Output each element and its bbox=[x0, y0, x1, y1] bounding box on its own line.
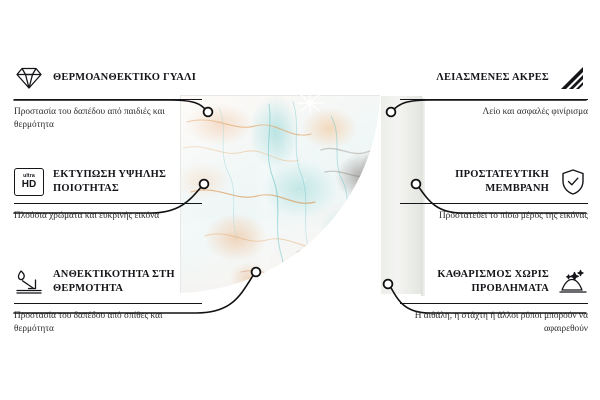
marble-vein-overlay bbox=[181, 96, 393, 298]
feature-title: ΘΕΡΜΟΑΝΘΕΚΤΙΚΟ ΓΥΑΛΙ bbox=[53, 71, 196, 85]
feature-easy-cleaning: ΚΑΘΑΡΙΣΜΟΣ ΧΩΡΙΣ ΠΡΟΒΛΗΜΑΤΑ Η αιθάλη, η … bbox=[400, 266, 588, 337]
feature-subtitle: Λείο και ασφαλές φινίρισμα bbox=[400, 106, 588, 119]
feature-title: ΠΡΟΣΤΑΤΕΥΤΙΚΗ ΜΕΜΒΡΑΝΗ bbox=[400, 168, 549, 196]
feature-divider bbox=[400, 303, 588, 304]
feature-title: ΛΕΙΑΣΜΕΝΕΣ ΑΚΡΕΣ bbox=[436, 71, 549, 85]
feature-divider bbox=[14, 203, 202, 204]
diagonal-stripes-icon bbox=[558, 63, 588, 93]
feature-heat-resistance: ΑΝΘΕΚΤΙΚΟΤΗΤΑ ΣΤΗ ΘΕΡΜΟΤΗΤΑ Προστασία το… bbox=[14, 266, 202, 337]
feature-subtitle: Προστασία του δαπέδου από σπίθες και θερ… bbox=[14, 310, 202, 337]
feature-subtitle: Προστασία του δαπέδου από παιδιές και θε… bbox=[14, 106, 202, 133]
feature-title: ΚΑΘΑΡΙΣΜΟΣ ΧΩΡΙΣ ΠΡΟΒΛΗΜΑΤΑ bbox=[400, 268, 549, 296]
feature-header: ultra HD ΕΚΤΥΠΩΣΗ ΥΨΗΛΗΣ ΠΟΙΟΤΗΤΑΣ bbox=[14, 166, 202, 198]
feature-heat-resistant-glass: ΘΕΡΜΟΑΝΘΕΚΤΙΚΟ ΓΥΑΛΙ Προστασία του δαπέδ… bbox=[14, 62, 202, 133]
sparkle-cloth-icon bbox=[558, 267, 588, 297]
feature-header: ΠΡΟΣΤΑΤΕΥΤΙΚΗ ΜΕΜΒΡΑΝΗ bbox=[400, 166, 588, 198]
shield-check-icon bbox=[558, 167, 588, 197]
infographic-canvas: ΘΕΡΜΟΑΝΘΕΚΤΙΚΟ ΓΥΑΛΙ Προστασία του δαπέδ… bbox=[0, 0, 600, 400]
ultra-hd-icon: ultra HD bbox=[14, 167, 44, 197]
feature-header: ΘΕΡΜΟΑΝΘΕΚΤΙΚΟ ΓΥΑΛΙ bbox=[14, 62, 202, 94]
product-image bbox=[175, 88, 425, 320]
feature-divider bbox=[400, 203, 588, 204]
feature-divider bbox=[14, 99, 202, 100]
heat-resistance-icon bbox=[14, 267, 44, 297]
feature-divider bbox=[400, 99, 588, 100]
feature-divider bbox=[14, 303, 202, 304]
feature-polished-edges: ΛΕΙΑΣΜΕΝΕΣ ΑΚΡΕΣ Λείο και ασφαλές φινίρι… bbox=[400, 62, 588, 119]
feature-protective-membrane: ΠΡΟΣΤΑΤΕΥΤΙΚΗ ΜΕΜΒΡΑΝΗ Προστατεύει το πί… bbox=[400, 166, 588, 223]
feature-subtitle: Προστατεύει το πίσω μέρος της εικόνας bbox=[400, 210, 588, 223]
feature-header: ΚΑΘΑΡΙΣΜΟΣ ΧΩΡΙΣ ΠΡΟΒΛΗΜΑΤΑ bbox=[400, 266, 588, 298]
feature-subtitle: Πλούσια χρώματα και ευκρινής εικόνα bbox=[14, 210, 202, 223]
feature-high-quality-print: ultra HD ΕΚΤΥΠΩΣΗ ΥΨΗΛΗΣ ΠΟΙΟΤΗΤΑΣ Πλούσ… bbox=[14, 166, 202, 223]
feature-header: ΑΝΘΕΚΤΙΚΟΤΗΤΑ ΣΤΗ ΘΕΡΜΟΤΗΤΑ bbox=[14, 266, 202, 298]
feature-subtitle: Η αιθάλη, η στάχτη ή άλλοι ρύποι μπορούν… bbox=[400, 310, 588, 337]
diamond-icon bbox=[14, 63, 44, 93]
abstract-marble-artwork bbox=[181, 96, 393, 298]
feature-title: ΑΝΘΕΚΤΙΚΟΤΗΤΑ ΣΤΗ ΘΕΡΜΟΤΗΤΑ bbox=[53, 268, 202, 296]
feature-title: ΕΚΤΥΠΩΣΗ ΥΨΗΛΗΣ ΠΟΙΟΤΗΤΑΣ bbox=[53, 168, 202, 196]
feature-header: ΛΕΙΑΣΜΕΝΕΣ ΑΚΡΕΣ bbox=[400, 62, 588, 94]
ultra-hd-icon-label-bottom: HD bbox=[22, 180, 36, 190]
